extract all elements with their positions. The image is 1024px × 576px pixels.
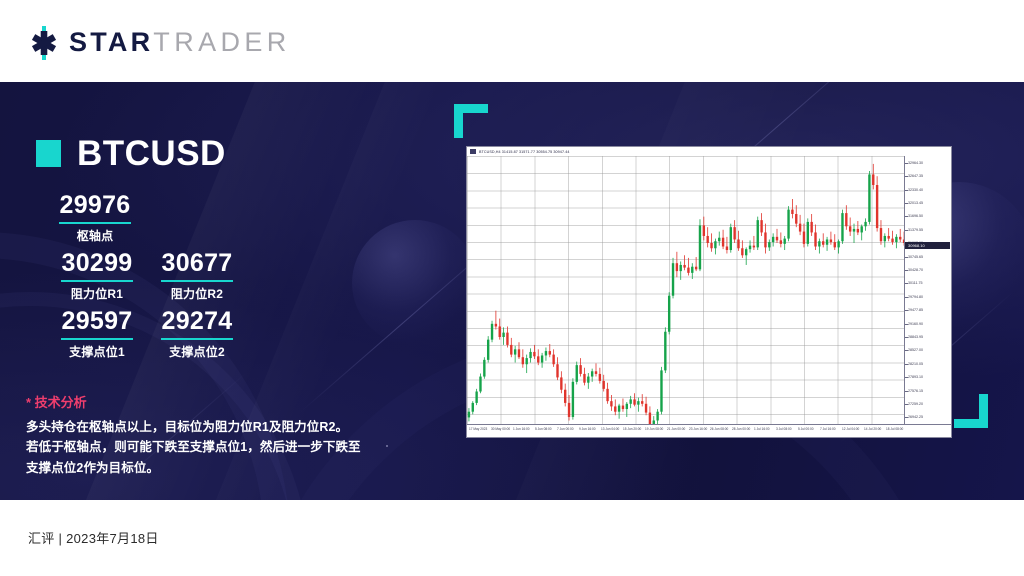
price-axis-label: 28843.95 bbox=[908, 335, 923, 339]
price-axis-label: 27259.20 bbox=[908, 402, 923, 406]
price-axis-label: 27576.15 bbox=[908, 389, 923, 393]
price-axis-label: 30111.75 bbox=[908, 281, 922, 285]
technical-analysis-block: * 技术分析 多头持仓在枢轴点以上，目标位为阻力位R1及阻力位R2。 若低于枢轴… bbox=[26, 392, 426, 478]
date-axis-label: 26 Jun 08:00 bbox=[710, 428, 728, 431]
chart-titlebar: BTCUSD,H4 31415.87 31571.77 30554.75 309… bbox=[467, 147, 951, 156]
asterisk-star-icon bbox=[28, 26, 60, 60]
price-axis-label: 27893.10 bbox=[908, 375, 923, 379]
level-pivot-label: 枢轴点 bbox=[20, 227, 170, 244]
date-axis-label: 9 Jun 16:00 bbox=[579, 428, 596, 431]
date-axis-label: 7 Jul 16:00 bbox=[820, 428, 835, 431]
analysis-title: * 技术分析 bbox=[26, 392, 426, 411]
price-axis-label: 31379.55 bbox=[908, 228, 923, 232]
date-axis-label: 12 Jul 04:00 bbox=[842, 428, 859, 431]
corner-bracket-bottom-right bbox=[954, 394, 988, 428]
analysis-line-2: 若低于枢轴点，则可能下跌至支撑点位1，然后进一步下跌至 bbox=[26, 437, 426, 457]
chart-zone: BTCUSD,H4 31415.87 31571.77 30554.75 309… bbox=[440, 82, 1024, 500]
date-axis-label: 7 Jun 00:00 bbox=[557, 428, 574, 431]
date-axis: 17 May 202330 May 00:001 Jun 16:005 Jun … bbox=[467, 424, 952, 437]
analysis-line-3: 支撑点位2作为目标位。 bbox=[26, 458, 426, 478]
brand-name-primary: STAR bbox=[69, 27, 153, 57]
price-axis-label: 29477.85 bbox=[908, 308, 923, 312]
symbol-marker-icon bbox=[36, 140, 61, 167]
date-axis-label: 14 Jul 20:00 bbox=[864, 428, 881, 431]
price-axis-label: 26942.25 bbox=[908, 415, 923, 419]
level-resistance-2-label: 阻力位R2 bbox=[122, 285, 272, 302]
level-support-2-value: 29274 bbox=[122, 308, 272, 335]
chart-titlebar-text: BTCUSD,H4 31415.87 31571.77 30554.75 309… bbox=[479, 150, 569, 154]
level-resistance-2-rule bbox=[161, 280, 233, 282]
level-pivot-value: 29976 bbox=[20, 192, 170, 219]
brand-wordmark: STARTRADER bbox=[69, 29, 291, 58]
chart-screenshot-window[interactable]: BTCUSD,H4 31415.87 31571.77 30554.75 309… bbox=[466, 146, 952, 438]
page-title: BTCUSD bbox=[77, 136, 226, 171]
current-price-tag: 30968.10 bbox=[905, 242, 950, 249]
brand-name-secondary: TRADER bbox=[153, 27, 290, 57]
date-axis-label: 18 Jul 08:00 bbox=[886, 428, 903, 431]
brand-logo[interactable]: STARTRADER bbox=[28, 26, 291, 60]
price-axis-label: 32964.30 bbox=[908, 161, 923, 165]
asterisk-glyph bbox=[28, 29, 60, 57]
date-axis-label: 19 Jun 08:00 bbox=[645, 428, 663, 431]
price-axis-label: 28210.05 bbox=[908, 362, 923, 366]
date-axis-label: 28 Jun 00:00 bbox=[732, 428, 750, 431]
candlestick-series bbox=[467, 156, 906, 424]
chart-plot-area[interactable] bbox=[467, 156, 906, 424]
price-axis-label: 32013.45 bbox=[908, 201, 923, 205]
page-footer: 汇评 | 2023年7月18日 bbox=[0, 500, 1024, 576]
price-axis-label: 30745.65 bbox=[908, 255, 923, 259]
corner-bracket-top-left bbox=[454, 104, 488, 138]
level-support-2-rule bbox=[161, 338, 233, 340]
date-axis-label: 13 Jun 04:00 bbox=[601, 428, 619, 431]
price-axis-label: 30428.70 bbox=[908, 268, 923, 272]
chart-window-icon bbox=[470, 149, 476, 154]
level-support-2-label: 支撑点位2 bbox=[122, 343, 272, 360]
level-support-2: 29274 支撑点位2 bbox=[122, 308, 272, 360]
date-axis-label: 21 Jun 00:00 bbox=[667, 428, 685, 431]
date-axis-label: 5 Jul 00:00 bbox=[798, 428, 813, 431]
price-axis-label: 28527.00 bbox=[908, 348, 923, 352]
level-pivot-rule bbox=[59, 222, 131, 224]
footer-caption: 汇评 | 2023年7月18日 bbox=[28, 528, 159, 547]
level-resistance-2: 30677 阻力位R2 bbox=[122, 250, 272, 302]
date-axis-label: 1 Jul 16:00 bbox=[754, 428, 769, 431]
analysis-line-1: 多头持仓在枢轴点以上，目标位为阻力位R1及阻力位R2。 bbox=[26, 417, 426, 437]
price-axis-label: 29794.80 bbox=[908, 295, 923, 299]
price-axis-label: 31696.50 bbox=[908, 214, 923, 218]
poster-root: STARTRADER BTCUSD 29976 枢轴点 bbox=[0, 0, 1024, 576]
page-header: STARTRADER bbox=[0, 0, 1024, 82]
symbol-heading: BTCUSD bbox=[36, 136, 226, 171]
price-axis: 32964.3032647.3532330.4032013.4531696.50… bbox=[904, 156, 951, 424]
date-axis-label: 15 Jun 20:00 bbox=[623, 428, 641, 431]
date-axis-label: 5 Jun 08:00 bbox=[535, 428, 552, 431]
date-axis-label: 17 May 2023 bbox=[469, 428, 487, 431]
date-axis-label: 1 Jun 16:00 bbox=[513, 428, 530, 431]
date-axis-label: 3 Jul 08:00 bbox=[776, 428, 791, 431]
main-dark-panel: BTCUSD 29976 枢轴点 30299 阻力位R1 30677 阻力位R2… bbox=[0, 82, 1024, 500]
analysis-body: 多头持仓在枢轴点以上，目标位为阻力位R1及阻力位R2。 若低于枢轴点，则可能下跌… bbox=[26, 417, 426, 478]
date-axis-label: 30 May 00:00 bbox=[491, 428, 510, 431]
price-axis-label: 32647.35 bbox=[908, 174, 923, 178]
price-axis-label: 32330.40 bbox=[908, 188, 923, 192]
date-axis-label: 23 Jun 16:00 bbox=[689, 428, 707, 431]
levels-panel: BTCUSD 29976 枢轴点 30299 阻力位R1 30677 阻力位R2… bbox=[0, 82, 440, 500]
price-axis-label: 29160.90 bbox=[908, 322, 923, 326]
level-resistance-2-value: 30677 bbox=[122, 250, 272, 277]
level-pivot: 29976 枢轴点 bbox=[20, 192, 170, 244]
